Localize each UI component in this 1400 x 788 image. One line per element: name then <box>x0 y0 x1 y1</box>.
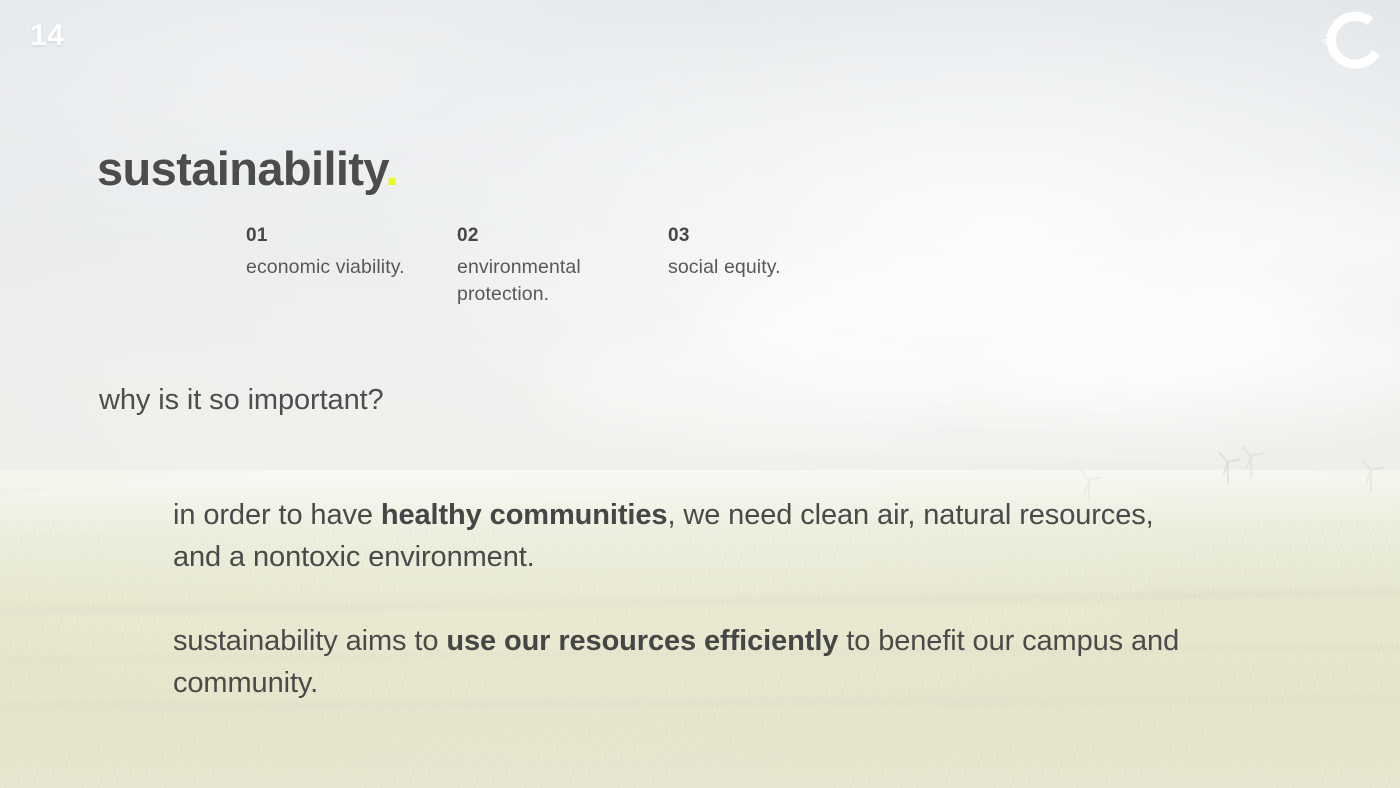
slide-content: 14 avalore sustainability. 01 economic v… <box>0 0 1400 788</box>
lead-question: why is it so important? <box>99 382 384 418</box>
pillar-item-01: 01 economic viability. <box>246 226 457 308</box>
page-title-text: sustainability <box>97 142 385 195</box>
pillar-label: environmental protection. <box>457 254 647 308</box>
pillar-item-02: 02 environmental protection. <box>457 226 668 308</box>
pillar-number: 02 <box>457 226 668 245</box>
logo-wordmark: avalore <box>1319 12 1358 46</box>
pillar-number: 03 <box>668 226 879 245</box>
pillar-label: economic viability. <box>246 254 436 281</box>
paragraph-2-highlight: use our resources efficiently <box>446 625 838 657</box>
pillar-label: social equity. <box>668 254 858 281</box>
pillar-item-03: 03 social equity. <box>668 226 879 308</box>
presentation-slide: 14 avalore sustainability. 01 economic v… <box>0 0 1400 788</box>
body-paragraph-1: in order to have healthy communities, we… <box>173 495 1183 579</box>
avalore-logo: avalore <box>1310 4 1390 82</box>
paragraph-1-before-bold: in order to have <box>173 499 381 531</box>
page-title: sustainability. <box>97 143 398 195</box>
title-accent-dot: . <box>385 142 397 195</box>
pillars-list: 01 economic viability. 02 environmental … <box>246 226 879 308</box>
paragraph-1-highlight: healthy communities <box>381 499 668 531</box>
body-paragraph-2: sustainability aims to use our resources… <box>173 621 1183 705</box>
slide-number: 14 <box>30 21 64 51</box>
pillar-number: 01 <box>246 226 457 245</box>
paragraph-2-before-bold: sustainability aims to <box>173 625 446 657</box>
